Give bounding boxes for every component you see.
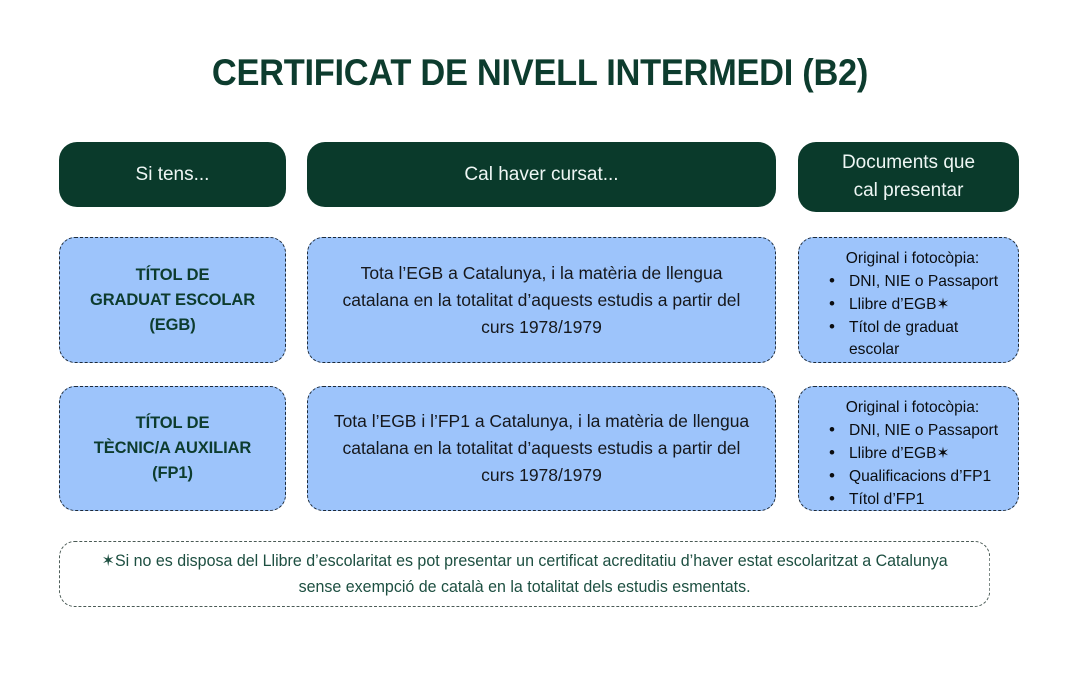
list-item: Títol d’FP1 xyxy=(837,489,1010,511)
row-1-title-line3: (EGB) xyxy=(149,316,195,334)
footnote-box: ✶Si no es disposa del Llibre d’escolarit… xyxy=(59,541,990,607)
row-2-documents: Original i fotocòpia: DNI, NIE o Passapo… xyxy=(798,386,1019,511)
column-header-documents: Documents que cal presentar xyxy=(798,142,1019,212)
list-item: Llibre d’EGB✶ xyxy=(837,443,1010,465)
row-1-documents-list: DNI, NIE o Passaport Llibre d’EGB✶ Títol… xyxy=(813,271,1010,361)
row-2-qualification-title: TÍTOL DE TÈCNIC/A AUXILIAR (FP1) xyxy=(59,386,286,511)
row-1-qualification-title: TÍTOL DE GRADUAT ESCOLAR (EGB) xyxy=(59,237,286,363)
row-1-title-line1: TÍTOL DE xyxy=(136,266,210,284)
column-header-si-tens: Si tens... xyxy=(59,142,286,207)
column-header-documents-line1: Documents que xyxy=(842,152,975,173)
infographic-page: CERTIFICAT DE NIVELL INTERMEDI (B2) Si t… xyxy=(0,0,1080,674)
footnote-text: ✶Si no es disposa del Llibre d’escolarit… xyxy=(89,548,960,600)
list-item: DNI, NIE o Passaport xyxy=(837,420,1010,442)
row-1-documents: Original i fotocòpia: DNI, NIE o Passapo… xyxy=(798,237,1019,363)
list-item: Qualificacions d’FP1 xyxy=(837,466,1010,488)
column-header-documents-label: Documents que cal presentar xyxy=(842,149,975,205)
row-2-requirement: Tota l’EGB i l’FP1 a Catalunya, i la mat… xyxy=(307,386,776,511)
row-2-qualification-title-text: TÍTOL DE TÈCNIC/A AUXILIAR (FP1) xyxy=(94,411,252,486)
row-1-qualification-title-text: TÍTOL DE GRADUAT ESCOLAR (EGB) xyxy=(90,263,255,338)
row-2-documents-list: DNI, NIE o Passaport Llibre d’EGB✶ Quali… xyxy=(813,420,1010,511)
row-1-requirement-text: Tota l’EGB a Catalunya, i la matèria de … xyxy=(330,260,753,341)
row-1-requirement: Tota l’EGB a Catalunya, i la matèria de … xyxy=(307,237,776,363)
column-header-documents-line2: cal presentar xyxy=(854,180,964,201)
column-header-cal-haver-cursat: Cal haver cursat... xyxy=(307,142,776,207)
row-2-title-line1: TÍTOL DE xyxy=(136,414,210,432)
row-1-title-line2: GRADUAT ESCOLAR xyxy=(90,291,255,309)
row-2-title-line3: (FP1) xyxy=(152,464,193,482)
row-1-documents-heading: Original i fotocòpia: xyxy=(813,248,1010,270)
row-2-requirement-text: Tota l’EGB i l’FP1 a Catalunya, i la mat… xyxy=(330,408,753,489)
list-item: Llibre d’EGB✶ xyxy=(837,294,1010,316)
column-header-si-tens-label: Si tens... xyxy=(136,161,210,189)
list-item: DNI, NIE o Passaport xyxy=(837,271,1010,293)
list-item: Títol de graduat escolar xyxy=(837,317,1010,361)
column-header-cal-haver-cursat-label: Cal haver cursat... xyxy=(464,161,618,189)
row-2-title-line2: TÈCNIC/A AUXILIAR xyxy=(94,439,252,457)
page-title: CERTIFICAT DE NIVELL INTERMEDI (B2) xyxy=(38,52,1042,94)
row-2-documents-heading: Original i fotocòpia: xyxy=(813,397,1010,419)
